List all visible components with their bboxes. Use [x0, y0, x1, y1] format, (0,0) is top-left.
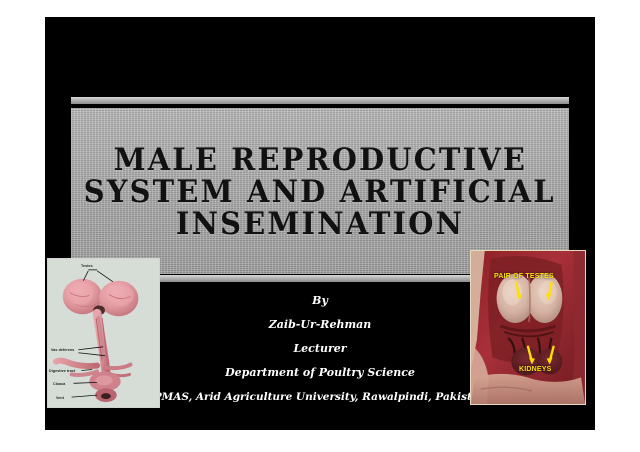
- slide-canvas: MALE REPRODUCTIVE SYSTEM AND ARTIFICIAL …: [45, 17, 595, 430]
- label-cloaca: Cloaca: [53, 382, 65, 386]
- label-pair-of-testes: PAIR OF TESTES: [494, 273, 554, 280]
- label-vas-deferens: Vas deferens: [51, 348, 74, 352]
- label-testes: Testes: [81, 264, 93, 268]
- gross-photo-right: PAIR OF TESTES KIDNEYS: [470, 250, 586, 405]
- label-vent: Vent: [56, 396, 64, 400]
- label-digestive-tract: Digestive tract: [49, 369, 75, 373]
- specimen-photo-left: Testes Vas deferens Digestive tract Cloa…: [47, 258, 160, 408]
- title-plate-top-bar: [71, 97, 569, 104]
- title-line-2: SYSTEM AND ARTIFICIAL: [84, 176, 556, 208]
- slide-page: MALE REPRODUCTIVE SYSTEM AND ARTIFICIAL …: [0, 0, 640, 452]
- title-line-1: MALE REPRODUCTIVE: [113, 144, 527, 176]
- title-line-3: INSEMINATION: [176, 208, 464, 240]
- label-kidneys: KIDNEYS: [519, 366, 552, 373]
